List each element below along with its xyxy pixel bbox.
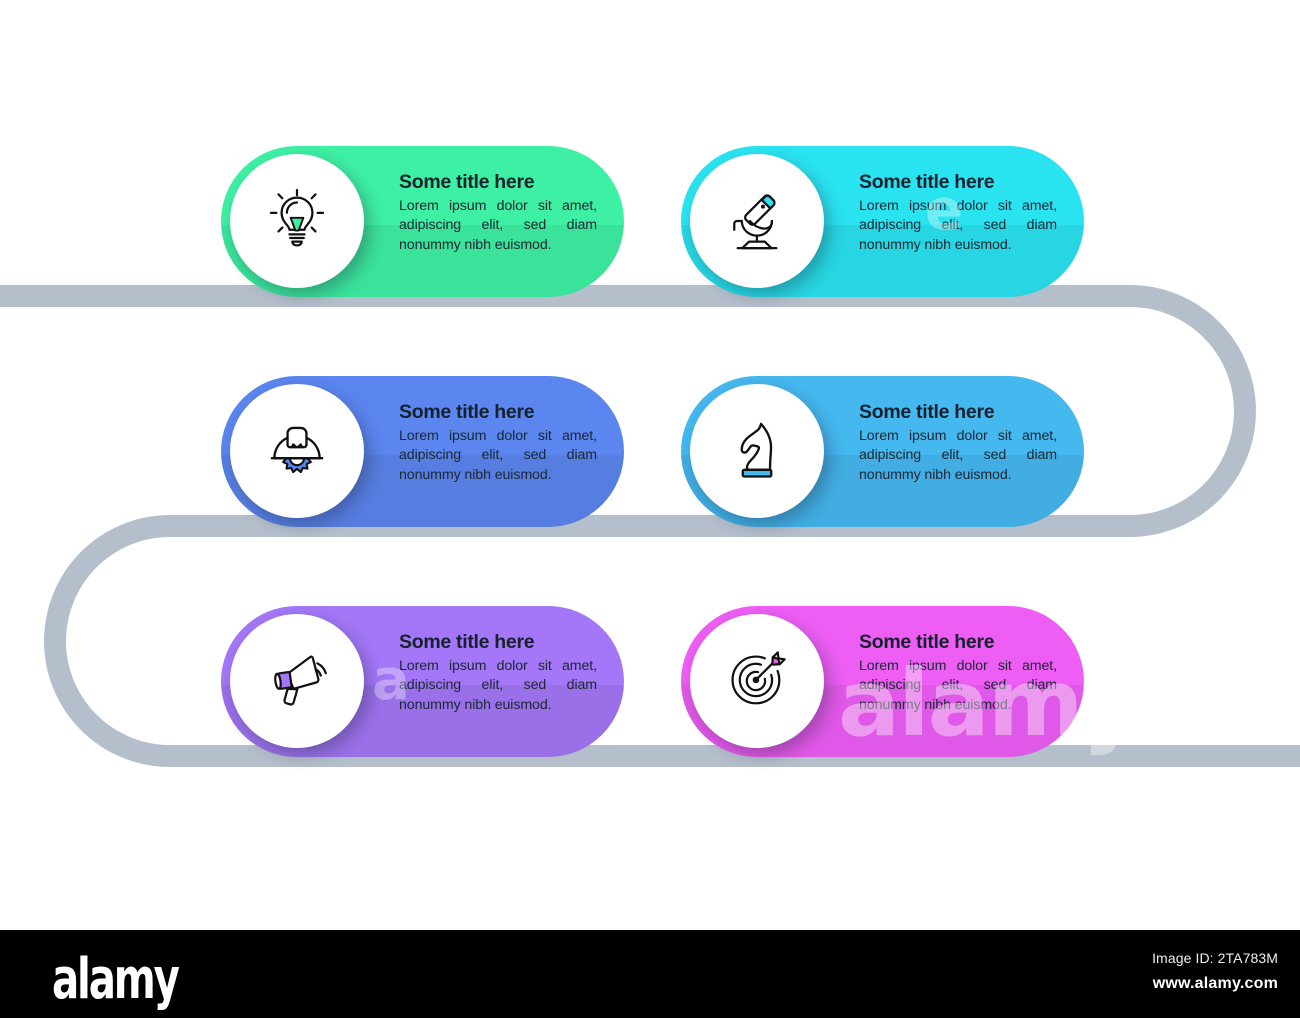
step-card-2[interactable]: Some title here Lorem ipsum dolor sit am… xyxy=(681,146,1084,297)
card-description: Lorem ipsum dolor sit amet, adipiscing e… xyxy=(859,427,1057,484)
infographic-canvas: Some title here Lorem ipsum dolor sit am… xyxy=(0,0,1300,930)
icon-circle-1 xyxy=(230,154,364,288)
card-text-3: Some title here Lorem ipsum dolor sit am… xyxy=(399,402,597,485)
card-title: Some title here xyxy=(399,402,597,423)
microscope-icon xyxy=(723,187,791,255)
step-card-5[interactable]: Some title here Lorem ipsum dolor sit am… xyxy=(221,606,624,757)
footer-meta: Image ID: 2TA783M www.alamy.com xyxy=(1152,950,1278,993)
card-title: Some title here xyxy=(859,632,1057,653)
alamy-logo: alamy xyxy=(52,947,178,1012)
icon-circle-3 xyxy=(230,384,364,518)
chess-knight-icon xyxy=(723,417,791,485)
website-url: www.alamy.com xyxy=(1152,975,1278,993)
target-dart-icon xyxy=(723,647,791,715)
card-title: Some title here xyxy=(859,402,1057,423)
icon-circle-5 xyxy=(230,614,364,748)
watermark-tile-a: a xyxy=(1148,398,1184,463)
footer-bar: alamy Image ID: 2TA783M www.alamy.com xyxy=(0,930,1300,1018)
image-id-label: Image ID: 2TA783M xyxy=(1152,950,1278,966)
card-text-2: Some title here Lorem ipsum dolor sit am… xyxy=(859,172,1057,255)
card-description: Lorem ipsum dolor sit amet, adipiscing e… xyxy=(859,657,1057,714)
card-title: Some title here xyxy=(859,172,1057,193)
card-text-1: Some title here Lorem ipsum dolor sit am… xyxy=(399,172,597,255)
card-description: Lorem ipsum dolor sit amet, adipiscing e… xyxy=(859,197,1057,254)
icon-circle-4 xyxy=(690,384,824,518)
icon-circle-2 xyxy=(690,154,824,288)
megaphone-icon xyxy=(263,647,331,715)
card-description: Lorem ipsum dolor sit amet, adipiscing e… xyxy=(399,657,597,714)
connector-path xyxy=(0,0,1300,930)
card-description: Lorem ipsum dolor sit amet, adipiscing e… xyxy=(399,427,597,484)
card-text-4: Some title here Lorem ipsum dolor sit am… xyxy=(859,402,1057,485)
step-card-1[interactable]: Some title here Lorem ipsum dolor sit am… xyxy=(221,146,624,297)
step-card-3[interactable]: Some title here Lorem ipsum dolor sit am… xyxy=(221,376,624,527)
card-text-5: Some title here Lorem ipsum dolor sit am… xyxy=(399,632,597,715)
card-title: Some title here xyxy=(399,632,597,653)
card-description: Lorem ipsum dolor sit amet, adipiscing e… xyxy=(399,197,597,254)
step-card-4[interactable]: Some title here Lorem ipsum dolor sit am… xyxy=(681,376,1084,527)
card-title: Some title here xyxy=(399,172,597,193)
hardhat-gear-icon xyxy=(263,417,331,485)
icon-circle-6 xyxy=(690,614,824,748)
card-text-6: Some title here Lorem ipsum dolor sit am… xyxy=(859,632,1057,715)
lightbulb-icon xyxy=(263,187,331,255)
step-card-6[interactable]: Some title here Lorem ipsum dolor sit am… xyxy=(681,606,1084,757)
